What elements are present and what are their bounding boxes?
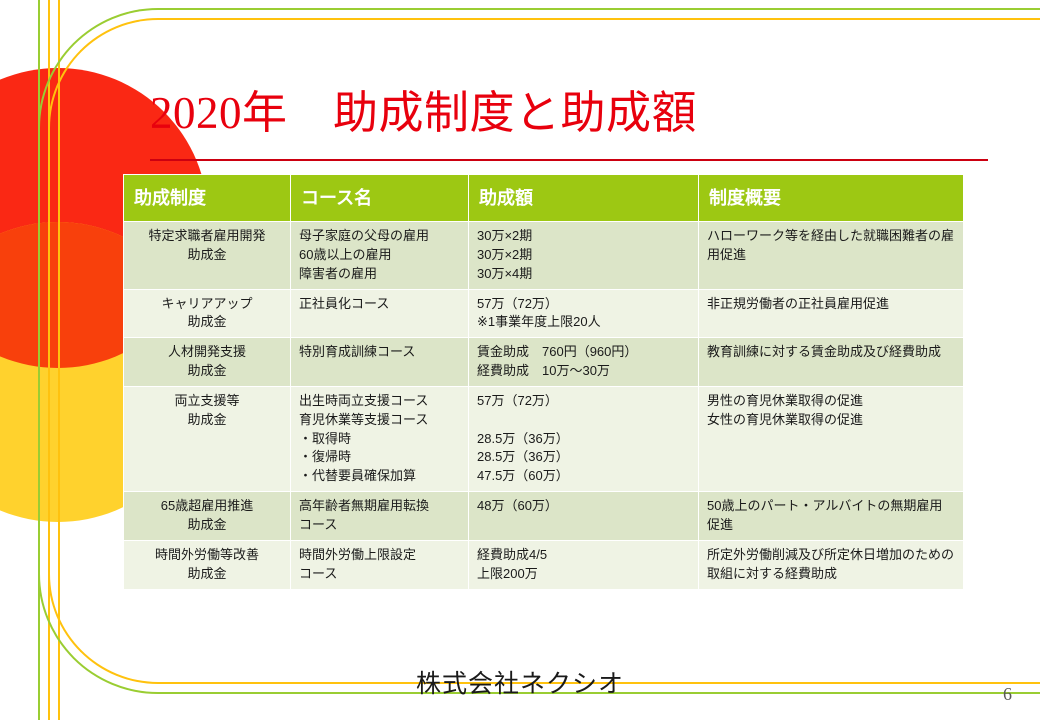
cell-outline: 50歳上のパート・アルバイトの無期雇用促進 <box>699 492 964 541</box>
cell-amount: 57万（72万） ※1事業年度上限20人 <box>469 289 699 338</box>
table-header: 助成制度 コース名 助成額 制度概要 <box>124 175 964 222</box>
cell-scheme: 特定求職者雇用開発 助成金 <box>124 222 291 290</box>
title-block: 2020年 助成制度と助成額 <box>150 88 990 140</box>
cell-course: 正社員化コース <box>291 289 469 338</box>
cell-scheme: 人材開発支援 助成金 <box>124 338 291 387</box>
accent-line-yellow-inner <box>58 0 60 720</box>
cell-course: 出生時両立支援コース 育児休業等支援コース ・取得時 ・復帰時 ・代替要員確保加… <box>291 386 469 491</box>
table-row: 時間外労働等改善 助成金 時間外労働上限設定 コース 経費助成4/5 上限200… <box>124 540 964 589</box>
cell-scheme: キャリアアップ 助成金 <box>124 289 291 338</box>
cell-scheme: 両立支援等 助成金 <box>124 386 291 491</box>
cell-amount: 48万（60万） <box>469 492 699 541</box>
accent-line-green <box>38 0 40 720</box>
cell-scheme: 時間外労働等改善 助成金 <box>124 540 291 589</box>
table-row: 65歳超雇用推進 助成金 高年齢者無期雇用転換 コース 48万（60万） 50歳… <box>124 492 964 541</box>
table-row: 両立支援等 助成金 出生時両立支援コース 育児休業等支援コース ・取得時 ・復帰… <box>124 386 964 491</box>
table-row: 人材開発支援 助成金 特別育成訓練コース 賃金助成 760円（960円） 経費助… <box>124 338 964 387</box>
table-body: 特定求職者雇用開発 助成金 母子家庭の父母の雇用 60歳以上の雇用 障害者の雇用… <box>124 222 964 590</box>
cell-outline: 所定外労働削減及び所定休日増加のための取組に対する経費助成 <box>699 540 964 589</box>
column-header-scheme: 助成制度 <box>124 175 291 222</box>
cell-course: 時間外労働上限設定 コース <box>291 540 469 589</box>
title-underline <box>150 159 988 161</box>
cell-scheme: 65歳超雇用推進 助成金 <box>124 492 291 541</box>
page-number: 6 <box>1003 684 1012 705</box>
subsidy-table: 助成制度 コース名 助成額 制度概要 特定求職者雇用開発 助成金 母子家庭の父母… <box>123 174 964 590</box>
cell-amount: 30万×2期 30万×2期 30万×4期 <box>469 222 699 290</box>
table-header-row: 助成制度 コース名 助成額 制度概要 <box>124 175 964 222</box>
footer-company-name: 株式会社ネクシオ <box>0 664 1040 700</box>
slide-canvas: 2020年 助成制度と助成額 助成制度 コース名 助成額 制度概要 特定求職者雇… <box>0 0 1040 720</box>
column-header-outline: 制度概要 <box>699 175 964 222</box>
cell-outline: 非正規労働者の正社員雇用促進 <box>699 289 964 338</box>
page-title: 2020年 助成制度と助成額 <box>150 88 990 140</box>
accent-line-yellow-outer <box>48 0 50 720</box>
cell-amount: 経費助成4/5 上限200万 <box>469 540 699 589</box>
cell-outline: 男性の育児休業取得の促進 女性の育児休業取得の促進 <box>699 386 964 491</box>
cell-course: 母子家庭の父母の雇用 60歳以上の雇用 障害者の雇用 <box>291 222 469 290</box>
column-header-course: コース名 <box>291 175 469 222</box>
cell-course: 特別育成訓練コース <box>291 338 469 387</box>
cell-outline: 教育訓練に対する賃金助成及び経費助成 <box>699 338 964 387</box>
cell-course: 高年齢者無期雇用転換 コース <box>291 492 469 541</box>
cell-amount: 57万（72万） 28.5万（36万） 28.5万（36万） 47.5万（60万… <box>469 386 699 491</box>
table-row: 特定求職者雇用開発 助成金 母子家庭の父母の雇用 60歳以上の雇用 障害者の雇用… <box>124 222 964 290</box>
cell-outline: ハローワーク等を経由した就職困難者の雇用促進 <box>699 222 964 290</box>
column-header-amount: 助成額 <box>469 175 699 222</box>
cell-amount: 賃金助成 760円（960円） 経費助成 10万〜30万 <box>469 338 699 387</box>
table-row: キャリアアップ 助成金 正社員化コース 57万（72万） ※1事業年度上限20人… <box>124 289 964 338</box>
